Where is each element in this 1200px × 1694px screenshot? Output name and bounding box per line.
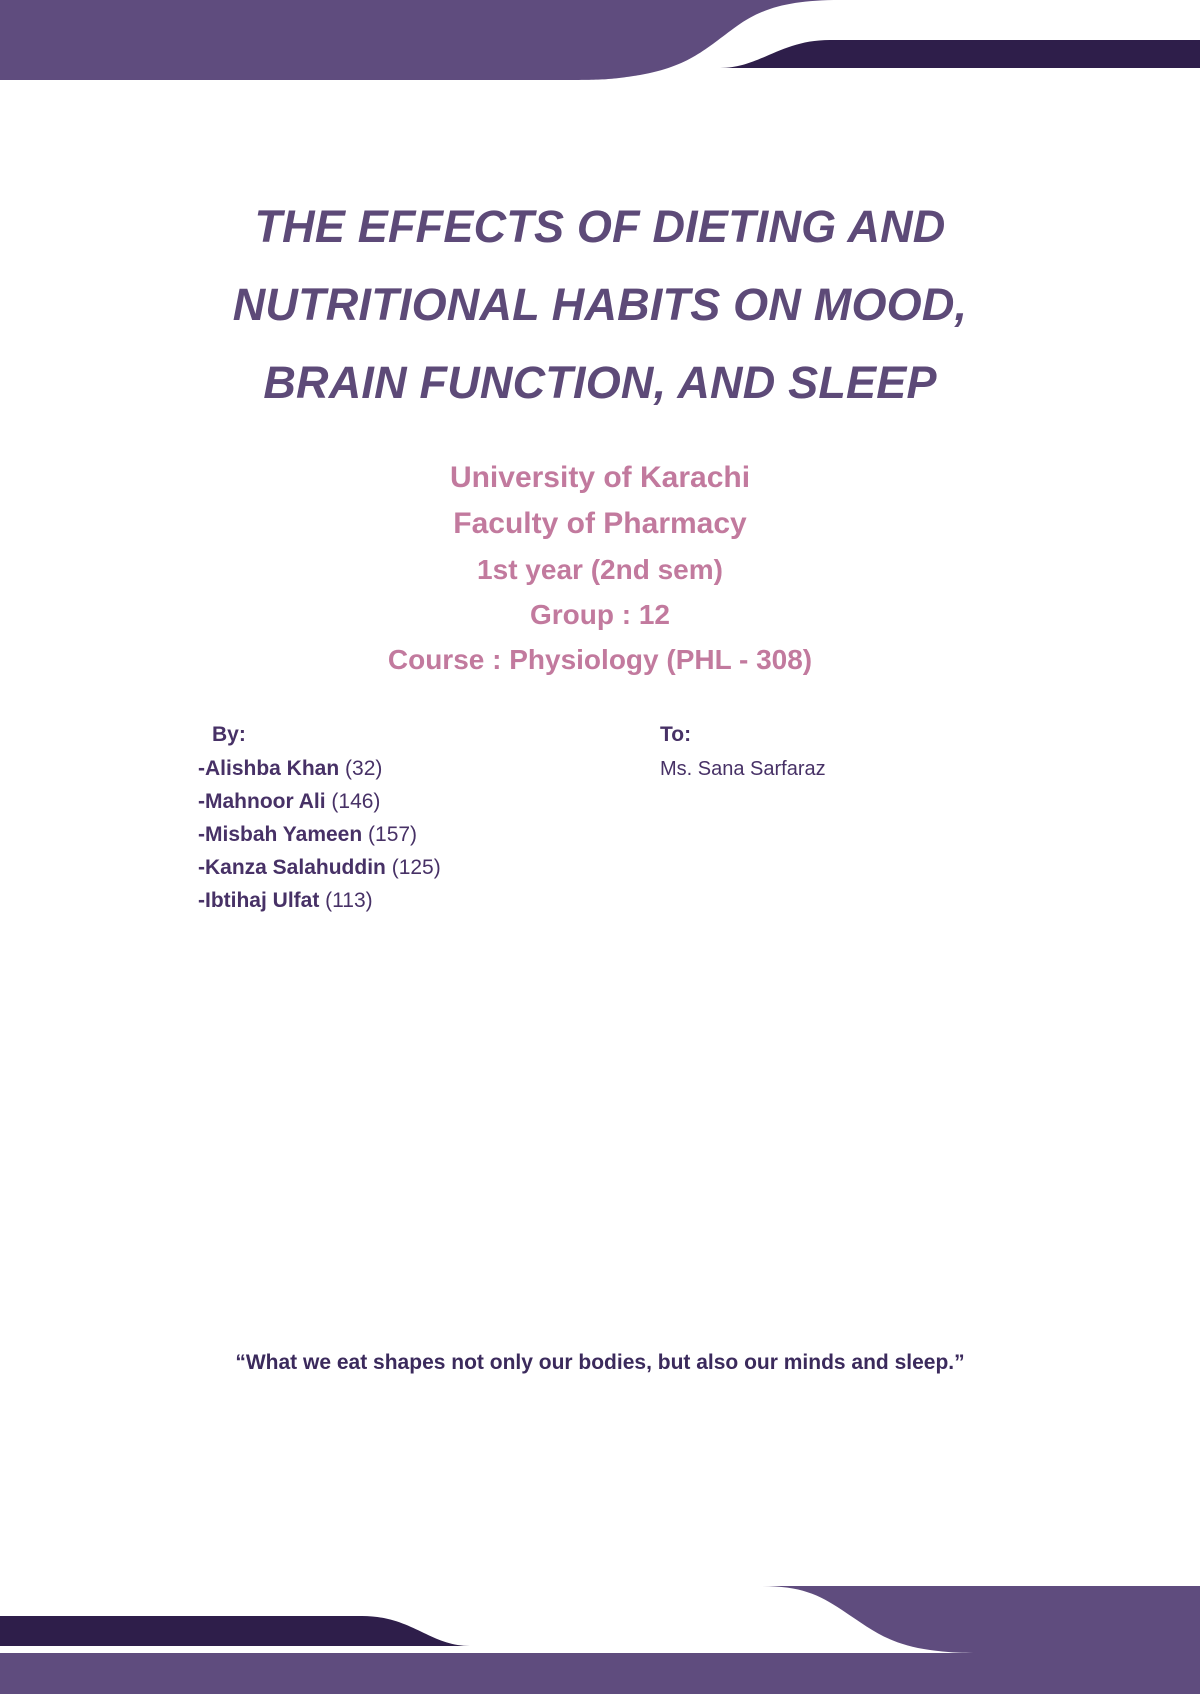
title-line-1: THE EFFECTS OF DIETING AND — [0, 188, 1200, 266]
group-number: Group : 12 — [0, 592, 1200, 637]
quote-text: “What we eat shapes not only our bodies,… — [235, 1348, 964, 1378]
cover-page: THE EFFECTS OF DIETING AND NUTRITIONAL H… — [0, 0, 1200, 1694]
footer-quote: “What we eat shapes not only our bodies,… — [0, 1348, 1200, 1378]
faculty-name: Faculty of Pharmacy — [0, 501, 1200, 547]
recipient-name: Ms. Sana Sarfaraz — [660, 752, 1060, 786]
institution-block: University of Karachi Faculty of Pharmac… — [0, 455, 1200, 682]
author-id: (146) — [331, 790, 380, 813]
bottom-light-wave-shape — [0, 1586, 1200, 1694]
top-light-wave-shape — [0, 0, 840, 80]
author-row: -Ibtihaj Ulfat (113) — [198, 884, 618, 917]
bottom-decorative-banner — [0, 1564, 1200, 1694]
to-label: To: — [660, 718, 1060, 752]
author-id: (113) — [325, 889, 372, 912]
title-line-3: BRAIN FUNCTION, AND SLEEP — [0, 344, 1200, 422]
author-name: -Ibtihaj Ulfat — [198, 889, 319, 912]
author-id: (32) — [345, 757, 382, 780]
author-row: -Kanza Salahuddin (125) — [198, 851, 618, 884]
academic-year: 1st year (2nd sem) — [0, 547, 1200, 592]
bottom-dark-band-shape — [0, 1616, 470, 1646]
course-name: Course : Physiology (PHL - 308) — [0, 637, 1200, 682]
author-id: (157) — [368, 823, 417, 846]
by-label: By: — [212, 718, 618, 752]
author-name: -Misbah Yameen — [198, 823, 362, 846]
author-row: -Mahnoor Ali (146) — [198, 785, 618, 818]
page-title: THE EFFECTS OF DIETING AND NUTRITIONAL H… — [0, 188, 1200, 422]
author-row: -Alishba Khan (32) — [198, 752, 618, 785]
top-decorative-banner — [0, 0, 1200, 120]
title-line-2: NUTRITIONAL HABITS ON MOOD, — [0, 266, 1200, 344]
university-name: University of Karachi — [0, 455, 1200, 501]
credits-block: By: -Alishba Khan (32) -Mahnoor Ali (146… — [0, 718, 1200, 938]
author-name: -Mahnoor Ali — [198, 790, 326, 813]
author-name: -Alishba Khan — [198, 757, 339, 780]
recipient-column: To: Ms. Sana Sarfaraz — [660, 718, 1060, 786]
author-name: -Kanza Salahuddin — [198, 856, 386, 879]
authors-column: By: -Alishba Khan (32) -Mahnoor Ali (146… — [198, 718, 618, 917]
top-dark-band-shape — [720, 40, 1200, 68]
author-id: (125) — [392, 856, 441, 879]
author-row: -Misbah Yameen (157) — [198, 818, 618, 851]
